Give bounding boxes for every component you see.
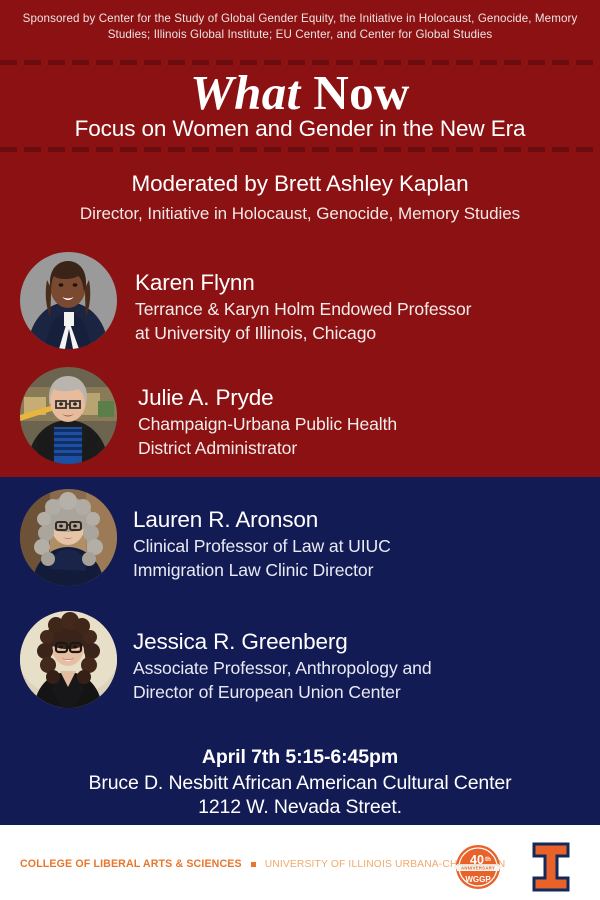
block-i-icon [531, 841, 571, 893]
title-word-roman: Now [313, 65, 409, 120]
speaker-name: Lauren R. Aronson [133, 505, 593, 534]
dashed-divider-bottom [0, 147, 600, 152]
speaker-name: Karen Flynn [135, 268, 595, 297]
page-subtitle: Focus on Women and Gender in the New Era [0, 115, 600, 143]
wggp-40th-anniversary-badge: 40 th ANNIVERSARY WGGP [452, 841, 504, 893]
separator-square-icon [251, 862, 256, 867]
speaker-title-line-1: Terrance & Karyn Holm Endowed Professor [135, 297, 595, 321]
speaker-title-line-2: at University of Illinois, Chicago [135, 321, 595, 345]
moderator-role: Director, Initiative in Holocaust, Genoc… [0, 202, 600, 225]
badge-program-label: WGGP [465, 875, 491, 884]
badge-ribbon-label: ANNIVERSARY [461, 866, 495, 871]
speaker-text-block: Lauren R. Aronson Clinical Professor of … [133, 505, 593, 582]
event-datetime: April 7th 5:15-6:45pm [0, 744, 600, 770]
speaker-title-line-2: Immigration Law Clinic Director [133, 558, 593, 582]
page-title: What Now [0, 66, 600, 120]
illinois-block-i-logo [531, 841, 571, 893]
speaker-text-block: Julie A. Pryde Champaign-Urbana Public H… [138, 383, 598, 460]
clas-primary-label: COLLEGE OF LIBERAL ARTS & SCIENCES [20, 858, 242, 870]
poster-canvas: Sponsored by Center for the Study of Glo… [0, 0, 600, 900]
avatar [20, 489, 117, 586]
speaker-title-line-1: Champaign-Urbana Public Health [138, 412, 598, 436]
avatar [20, 367, 117, 464]
badge-ordinal: th [485, 857, 491, 863]
avatar [20, 611, 117, 708]
portrait-julie-pryde-icon [20, 367, 117, 464]
anniversary-seal-icon: 40 th ANNIVERSARY WGGP [452, 841, 504, 893]
speaker-title-line-1: Associate Professor, Anthropology and [133, 656, 593, 680]
portrait-karen-flynn-icon [20, 252, 117, 349]
event-venue: Bruce D. Nesbitt African American Cultur… [0, 770, 600, 796]
speaker-title-line-1: Clinical Professor of Law at UIUC [133, 534, 593, 558]
speaker-title-line-2: District Administrator [138, 436, 598, 460]
portrait-jessica-greenberg-icon [20, 611, 117, 708]
speaker-title-line-2: Director of European Union Center [133, 680, 593, 704]
moderator-name: Moderated by Brett Ashley Kaplan [0, 170, 600, 198]
event-address: 1212 W. Nevada Street. [0, 794, 600, 820]
clas-logo-lockup: COLLEGE OF LIBERAL ARTS & SCIENCES UNIVE… [20, 858, 505, 870]
speaker-text-block: Jessica R. Greenberg Associate Professor… [133, 627, 593, 704]
speaker-name: Julie A. Pryde [138, 383, 598, 412]
portrait-lauren-aronson-icon [20, 489, 117, 586]
speaker-text-block: Karen Flynn Terrance & Karyn Holm Endowe… [135, 268, 595, 345]
avatar [20, 252, 117, 349]
title-word-italic: What [190, 65, 301, 120]
speaker-name: Jessica R. Greenberg [133, 627, 593, 656]
sponsor-credit-text: Sponsored by Center for the Study of Glo… [0, 11, 600, 44]
